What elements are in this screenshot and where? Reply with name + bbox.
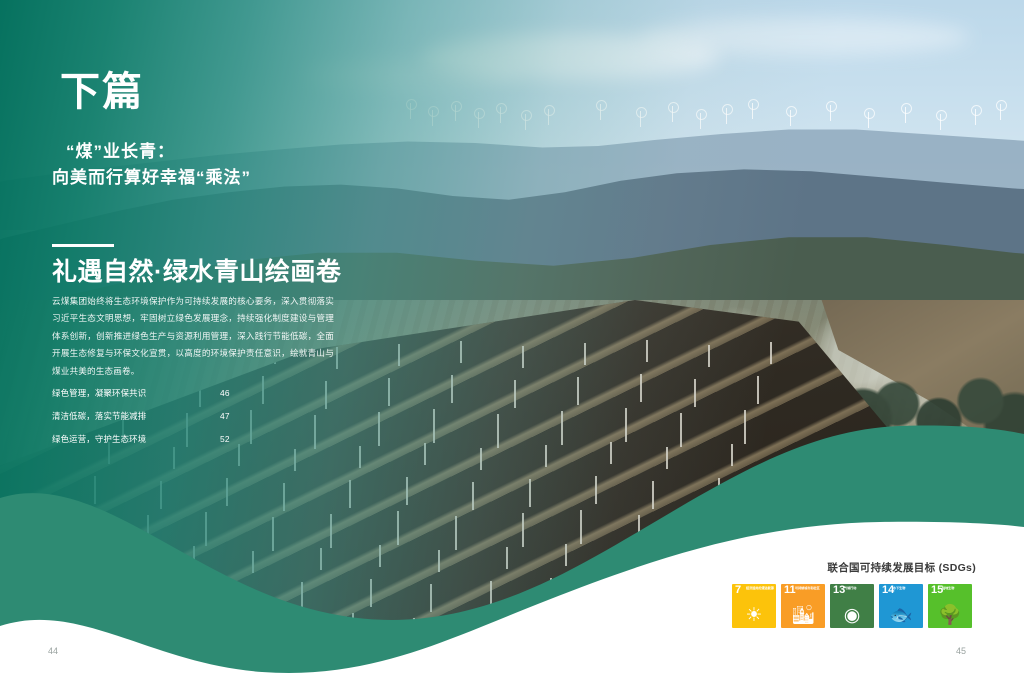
section-body-copy: 云煤集团始终将生态环境保护作为可持续发展的核心要务，深入贯彻落实习近平生态文明思… xyxy=(52,293,334,380)
chapter-subtitle-line1: “煤”业长青： xyxy=(52,139,392,165)
contents-row[interactable]: 绿色管理，凝聚环保共识46 xyxy=(52,387,242,399)
contents-row-page: 52 xyxy=(220,434,242,444)
tree-birds-icon: 🌳 xyxy=(928,606,972,625)
report-spread-page: 下篇 “煤”业长青： 向美而行算好幸福“乘法” 礼遇自然·绿水青山绘画卷 云煤集… xyxy=(0,0,1024,694)
sdg-goal-13[interactable]: 13气候行动◉ xyxy=(830,584,874,628)
sun-icon: ☀ xyxy=(732,606,776,625)
sdg-goal-7[interactable]: 7经济适用的清洁能源☀ xyxy=(732,584,776,628)
contents-row[interactable]: 绿色运营，守护生态环境52 xyxy=(52,433,242,445)
contents-row-title: 绿色管理，凝聚环保共识 xyxy=(52,387,146,399)
sdg-goal-label: 气候行动 xyxy=(844,587,872,591)
fish-waves-icon: 🐟 xyxy=(879,606,923,625)
section-title: 礼遇自然·绿水青山绘画卷 xyxy=(52,252,452,288)
sdg-goal-label: 经济适用的清洁能源 xyxy=(746,587,774,591)
page-number-right: 45 xyxy=(956,646,966,656)
text-layer: 下篇 “煤”业长青： 向美而行算好幸福“乘法” 礼遇自然·绿水青山绘画卷 云煤集… xyxy=(0,0,1024,694)
contents-row[interactable]: 清洁低碳，落实节能减排47 xyxy=(52,410,242,422)
chapter-label: 下篇 xyxy=(60,72,144,112)
sdg-goal-15[interactable]: 15陆地生物🌳 xyxy=(928,584,972,628)
sdg-goal-14[interactable]: 14水下生物🐟 xyxy=(879,584,923,628)
sdg-goal-11[interactable]: 11可持续城市和社区🏙 xyxy=(781,584,825,628)
sdg-heading: 联合国可持续发展目标 (SDGs) xyxy=(728,560,978,575)
sdg-goal-number: 11 xyxy=(784,585,796,596)
contents-row-page: 47 xyxy=(220,411,242,421)
contents-row-page: 46 xyxy=(220,388,242,398)
city-buildings-icon: 🏙 xyxy=(781,606,825,625)
chapter-subtitle-line2: 向美而行算好幸福“乘法” xyxy=(52,165,392,191)
sdg-goal-label: 水下生物 xyxy=(893,587,921,591)
chapter-subtitle: “煤”业长青： 向美而行算好幸福“乘法” xyxy=(52,139,392,192)
contents-row-title: 绿色运营，守护生态环境 xyxy=(52,433,146,445)
sdg-goal-number: 7 xyxy=(735,585,741,596)
sdg-icon-row: 7经济适用的清洁能源☀11可持续城市和社区🏙13气候行动◉14水下生物🐟15陆地… xyxy=(728,584,978,628)
sdg-block: 联合国可持续发展目标 (SDGs) 7经济适用的清洁能源☀11可持续城市和社区🏙… xyxy=(728,560,978,628)
climate-eye-globe-icon: ◉ xyxy=(830,606,874,625)
contents-row-title: 清洁低碳，落实节能减排 xyxy=(52,410,146,422)
sdg-goal-label: 可持续城市和社区 xyxy=(795,587,823,591)
sdg-goal-label: 陆地生物 xyxy=(942,587,970,591)
contents-list[interactable]: 绿色管理，凝聚环保共识46清洁低碳，落实节能减排47绿色运营，守护生态环境52 xyxy=(52,387,242,456)
title-rule xyxy=(52,244,114,247)
page-number-left: 44 xyxy=(48,646,58,656)
